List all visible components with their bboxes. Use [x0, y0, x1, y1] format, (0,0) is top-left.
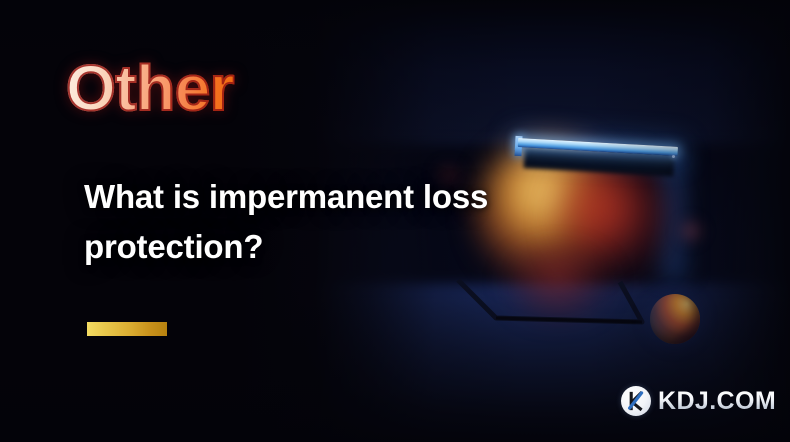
category-label: Other: [66, 56, 234, 120]
article-cover-card: Other What is impermanent loss protectio…: [0, 0, 790, 442]
kdj-k-logo-icon: [621, 386, 651, 416]
gold-accent-bar: [87, 322, 167, 336]
headline-question: What is impermanent loss protection?: [84, 172, 604, 272]
brand-name-text: KDJ.COM: [658, 389, 776, 414]
brand-lockup[interactable]: KDJ.COM: [621, 386, 776, 416]
content-layer: Other What is impermanent loss protectio…: [0, 0, 790, 442]
